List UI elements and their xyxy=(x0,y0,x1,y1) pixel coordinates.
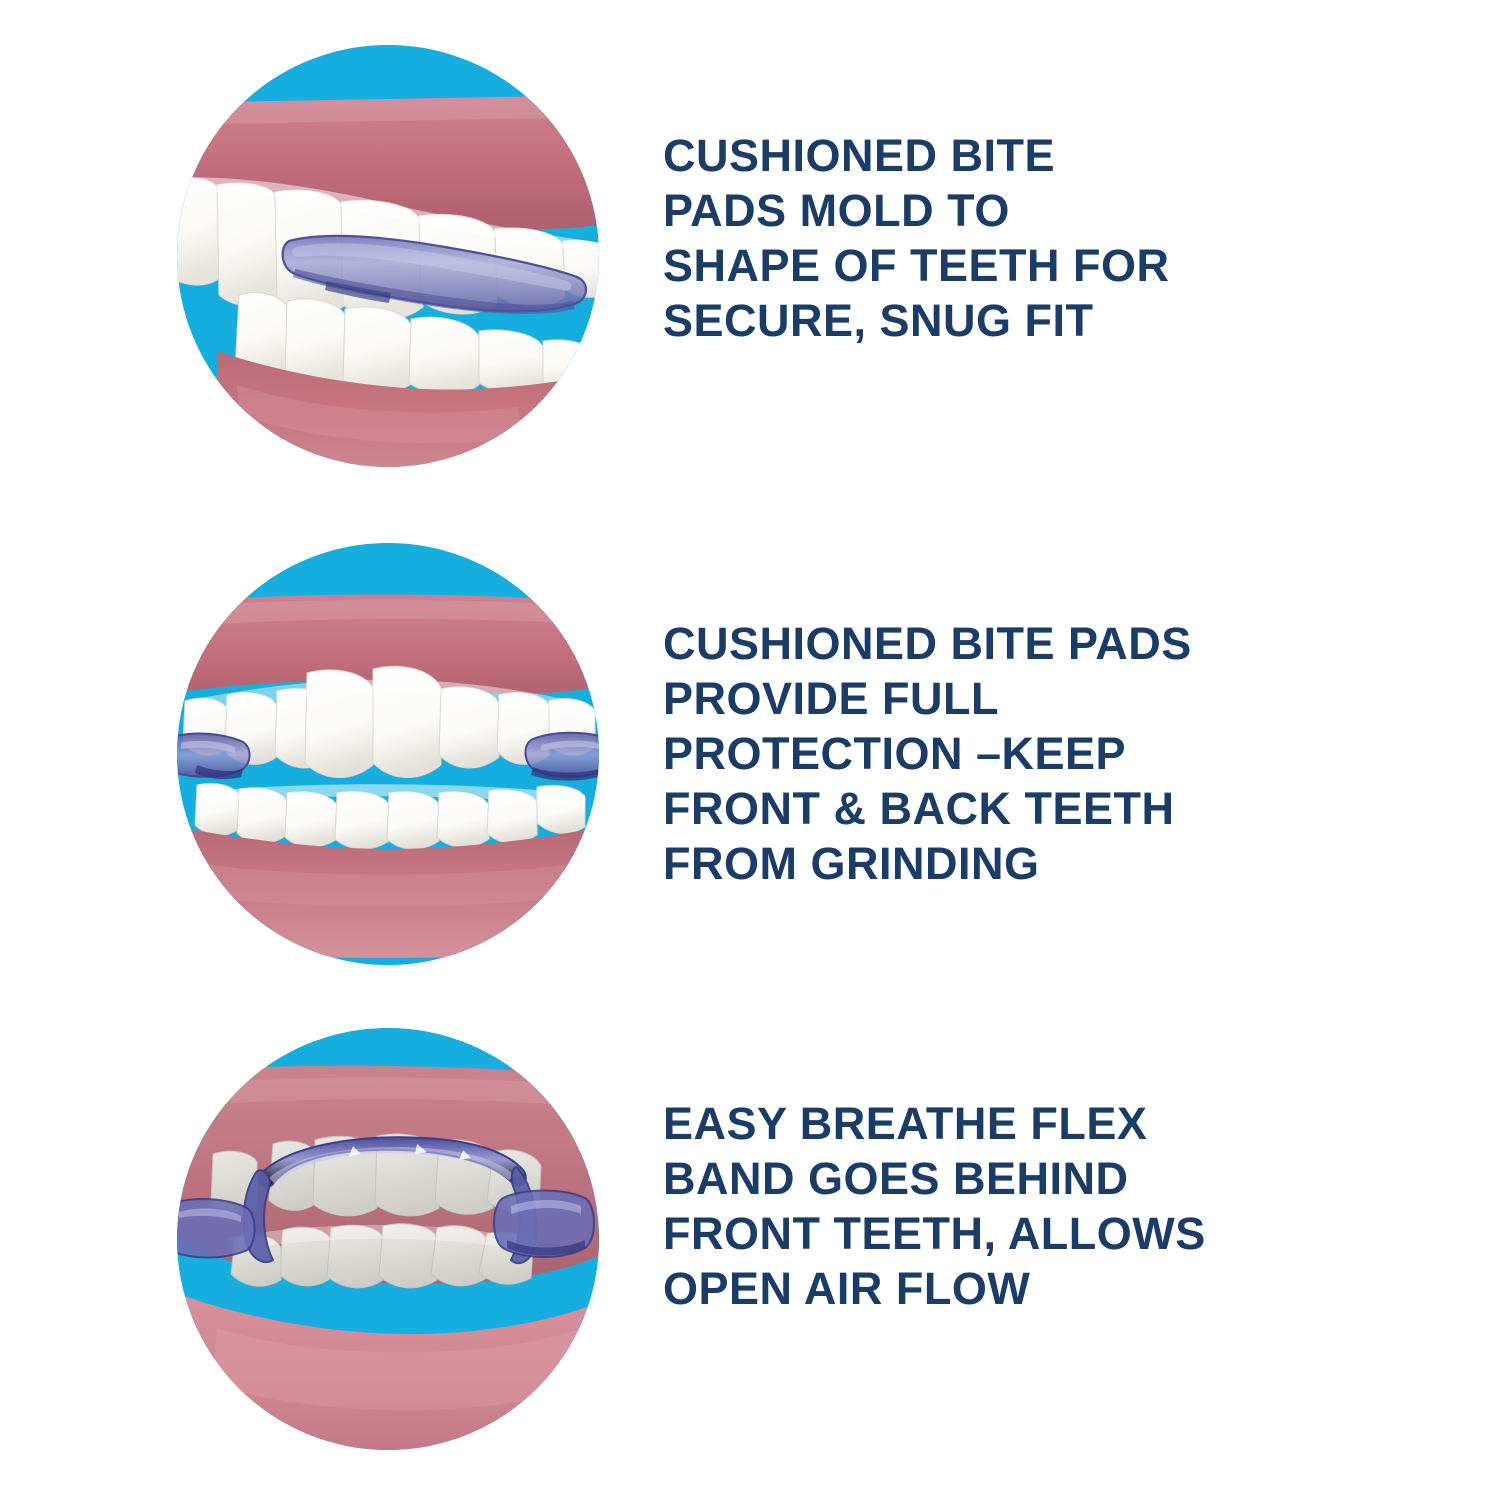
feature-headline-3: EASY BREATHE FLEX BAND GOES BEHIND FRONT… xyxy=(663,1096,1363,1316)
side-view-svg xyxy=(177,45,599,467)
bite-pad-right xyxy=(526,733,600,781)
feature-row-3: EASY BREATHE FLEX BAND GOES BEHIND FRONT… xyxy=(0,1028,1500,1450)
feature-headline-2: CUSHIONED BITE PADS PROVIDE FULL PROTECT… xyxy=(663,616,1363,891)
infographic-page: CUSHIONED BITE PADS MOLD TO SHAPE OF TEE… xyxy=(0,0,1500,1500)
feature-row-2: CUSHIONED BITE PADS PROVIDE FULL PROTECT… xyxy=(0,543,1500,965)
feature-headline-1: CUSHIONED BITE PADS MOLD TO SHAPE OF TEE… xyxy=(663,128,1363,348)
illustration-interior-view-flex-band xyxy=(177,1028,599,1450)
illustration-front-view-teeth-with-bite-pads xyxy=(177,543,599,965)
feature-row-1: CUSHIONED BITE PADS MOLD TO SHAPE OF TEE… xyxy=(0,45,1500,467)
front-view-svg xyxy=(177,543,599,965)
illustration-side-view-open-bite-with-guard xyxy=(177,45,599,467)
interior-view-svg xyxy=(177,1028,599,1450)
bite-pad-left xyxy=(177,734,250,780)
